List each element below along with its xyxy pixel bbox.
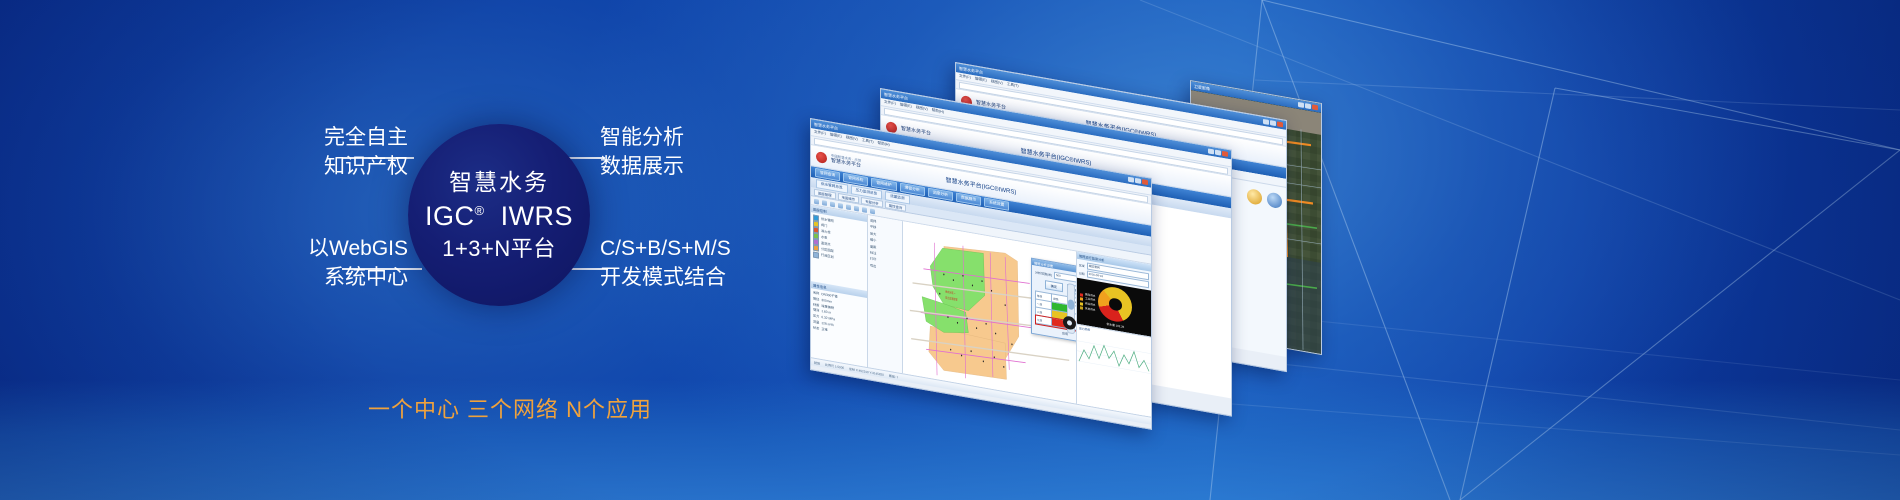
core-en-iwrs: IWRS [501,201,574,231]
tagline: 一个中心 三个网络 N个应用 [300,392,720,424]
tree-item-label: 行政区划 [821,252,834,260]
pressure-trend-chart: 压力趋势 [1077,324,1151,417]
maximize-icon [1305,103,1311,109]
menu-view[interactable]: 视图(V) [916,105,928,112]
analytics-panel[interactable]: 管网运行监测分析 区域 城区管网 日期 2016-08-18 居 [1076,252,1151,417]
pan-icon [822,200,827,206]
date-label: 日期 [1079,271,1085,276]
menu-help[interactable]: 帮助(H) [878,141,890,148]
legend-swatch [1080,297,1083,301]
confirm-button[interactable]: 确定 [1045,280,1063,292]
layer-panel[interactable]: 图层控制 供水管网 阀门 消火栓 水表 监测点 分区图层 行政区划 属性信息 名… [811,205,868,367]
gis-map-canvas[interactable]: 供水分区一压力正常区域 爆管分析设置 分析范围(米) 500 确定 [903,221,1076,403]
close-icon [1222,151,1228,157]
donut-title: 供水量 102.25 [1107,322,1125,329]
print-icon [862,207,867,213]
feature-label-bottom-left: 以WebGIS 系统中心 [290,235,408,293]
menu-edit[interactable]: 编辑(E) [830,132,842,139]
close-icon [1277,121,1283,127]
minimize-icon [1128,177,1134,183]
feature-label-top-left: 完全自主 知识产权 [298,124,408,182]
identify-icon [854,205,859,211]
feature-line2: 知识产权 [298,153,408,182]
menu-view[interactable]: 视图(V) [991,79,1003,86]
feature-line2: 数据展示 [600,153,684,182]
legend-swatch [1080,293,1083,297]
layer-tree[interactable]: 供水管网 阀门 消火栓 水表 监测点 分区图层 行政区划 [811,212,867,291]
minimize-icon [1208,148,1214,154]
core-en-title: IGC® IWRS [425,203,573,230]
dialog-field-label: 分析范围(米) [1035,270,1052,277]
attr-key: 状态 [813,325,819,332]
menu-file[interactable]: 文件(F) [959,74,971,81]
donut-graphic [1098,284,1132,324]
measure-icon [846,204,851,210]
attribute-list: 名称DN300干管 管径300mm 材质球墨铸铁 埋深1.60 m 压力0.32… [811,288,867,367]
status-ready: 就绪 [814,360,820,365]
region-label: 区域 [1079,263,1085,268]
registered-icon: ® [474,203,484,218]
attr-value: 正常 [821,327,827,334]
feature-line1: 智能分析 [600,126,684,149]
minimize-icon [1263,119,1269,125]
feature-line2: 系统中心 [290,264,408,293]
donut-legend: 居民用水 工业用水 商业用水 其他用水 [1080,292,1095,313]
menu-edit[interactable]: 编辑(E) [900,102,912,109]
legend-label: 其他用水 [1085,307,1095,313]
menu-help[interactable]: 帮助(H) [932,108,944,115]
maximize-icon [1270,120,1276,126]
feature-line1: 完全自主 [324,126,408,149]
core-subtitle: 1+3+N平台 [442,238,556,260]
scrollbar-knob[interactable] [1068,299,1074,310]
brand-block: 中国智慧水务 · 示范 智慧水务平台 [831,153,861,169]
status-layers: 图层: 7 [889,373,898,379]
concept-diagram: 智慧水务 IGC® IWRS 1+3+N平台 完全自主 知识产权 智能分析 数据… [0,0,820,500]
warning-round-icon [1247,188,1262,206]
feature-label-bottom-right: C/S+B/S+M/S 开发模式结合 [600,235,731,293]
info-round-icon [1267,192,1282,210]
select-icon [814,198,819,204]
menu-file[interactable]: 文件(F) [884,100,896,107]
menu-tools[interactable]: 工具(T) [862,138,874,145]
zoom-out-icon [838,202,843,208]
status-scale: 比例尺 1:5000 [825,362,844,369]
donut-wrap: 供水量 102.25 [1098,284,1132,330]
maximize-icon [1215,150,1221,156]
core-en-igc: IGC [425,201,475,231]
legend-swatch [1080,307,1083,311]
feature-label-top-right: 智能分析 数据展示 [600,124,684,182]
banner-stage: 智慧水务 IGC® IWRS 1+3+N平台 完全自主 知识产权 智能分析 数据… [0,0,1900,500]
core-badge: 智慧水务 IGC® IWRS 1+3+N平台 [408,124,590,306]
feature-line1: 以WebGIS [308,237,408,260]
menu-view[interactable]: 视图(V) [846,135,858,142]
back-window-round-buttons[interactable] [1247,188,1282,209]
cell-level: 三级 [1036,315,1052,326]
menu-tools[interactable]: 工具(T) [1007,82,1019,89]
zoom-in-icon [830,201,835,207]
menu-file[interactable]: 文件(F) [814,130,826,137]
maximize-icon [1135,178,1141,184]
export-icon [870,208,875,214]
feature-line1: C/S+B/S+M/S [600,237,731,260]
close-icon [1142,179,1148,185]
feature-line2: 开发模式结合 [600,264,731,293]
close-icon [1312,104,1318,110]
layer-color-swatch [813,251,819,258]
core-cn-title: 智慧水务 [449,171,549,194]
legend-swatch [1080,302,1083,306]
company-logo-icon [816,151,827,164]
minimize-icon [1298,102,1304,108]
tool-list-panel[interactable]: 选择 平移 放大 缩小 量距 标注 打印 导出 [868,215,903,373]
application-screens: 卫星影像 [780,0,1900,500]
menu-edit[interactable]: 编辑(E) [975,76,987,83]
